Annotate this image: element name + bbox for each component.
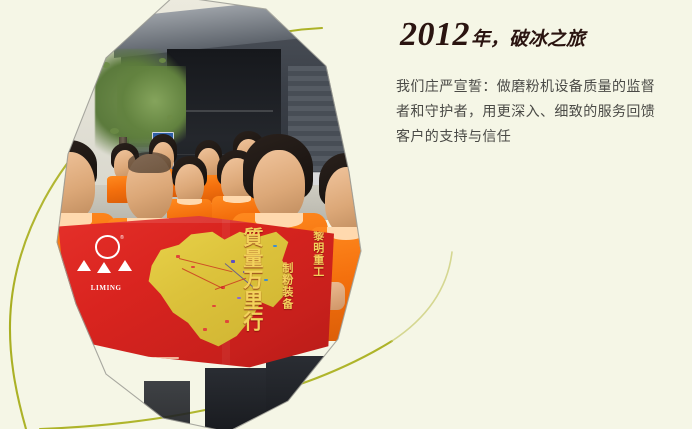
- map-marker: [191, 266, 195, 269]
- banner-column-left: 質量万里行: [241, 227, 261, 375]
- photo-scene: ® LIMING: [0, 0, 372, 429]
- photo-clip-mask: ® LIMING: [0, 0, 372, 429]
- trousers: [266, 356, 327, 429]
- building-band: [174, 110, 273, 112]
- trousers: [205, 368, 266, 429]
- trousers: [144, 381, 190, 429]
- leaf-cluster: [167, 115, 173, 120]
- banner-column-right: 黎明重工: [312, 230, 323, 353]
- liming-logo: ® LIMING: [70, 234, 143, 294]
- logo-wordmark: LIMING: [70, 284, 143, 292]
- headline-year: 2012: [400, 16, 470, 53]
- map-marker: [231, 260, 235, 263]
- banner-column-mid: 制粉装备: [281, 262, 292, 357]
- map-marker: [225, 320, 229, 323]
- map-marker: [203, 328, 207, 331]
- banner-slide: ® LIMING: [0, 0, 692, 429]
- map-marker: [264, 279, 268, 282]
- page-title: 2012年，破冰之旅: [400, 18, 680, 52]
- logo-triangle: [77, 260, 91, 271]
- text-column: 2012年，破冰之旅 我们庄严宣誓：做磨粉机设备质量的监督者和守护者，用更深入、…: [392, 18, 680, 149]
- body-paragraph: 我们庄严宣誓：做磨粉机设备质量的监督者和守护者，用更深入、细致的服务回馈客户的支…: [396, 74, 668, 149]
- logo-ring: [95, 235, 121, 259]
- logo-triangle: [97, 262, 111, 273]
- body-text: 我们庄严宣誓：做磨粉机设备质量的监督者和守护者，用更深入、细致的服务回馈客户的支…: [396, 74, 668, 149]
- logo-triangle: [118, 260, 132, 271]
- team-photo: ® LIMING: [0, 0, 372, 429]
- leaf-cluster: [159, 58, 166, 63]
- china-map-graphic: [146, 227, 298, 357]
- registered-mark: ®: [120, 235, 124, 241]
- headline-suffix: 年，破冰之旅: [471, 29, 585, 50]
